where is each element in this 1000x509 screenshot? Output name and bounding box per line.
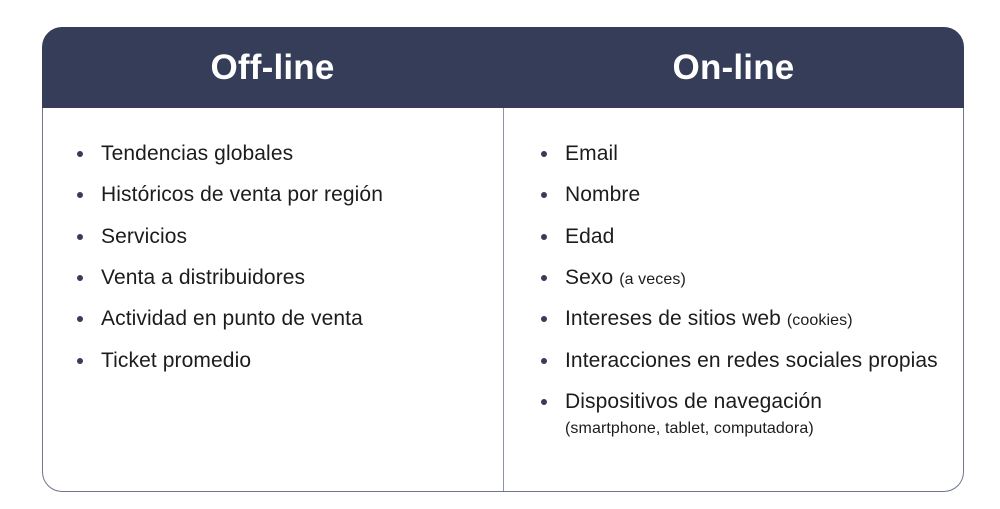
table-header-row: Off-line On-line	[42, 27, 964, 108]
list-item-label: Actividad en punto de venta	[101, 307, 363, 330]
list-item: Históricos de venta por región	[73, 180, 487, 210]
list-item-label: Dispositivos de navegación	[565, 390, 822, 413]
list-item-label: Intereses de sitios web	[565, 307, 787, 330]
list-item-label: Nombre	[565, 183, 640, 206]
online-bullet-list: Email Nombre Edad Sexo (a veces) Interes…	[537, 139, 947, 440]
list-item: Intereses de sitios web (cookies)	[537, 304, 947, 334]
list-item: Edad	[537, 222, 947, 252]
list-item: Interacciones en redes sociales propias	[537, 346, 947, 376]
page-canvas: Off-line On-line Tendencias globales His…	[0, 0, 1000, 509]
list-item-label: Históricos de venta por región	[101, 183, 383, 206]
list-item-label: Venta a distribuidores	[101, 266, 305, 289]
list-item-note: (a veces)	[619, 271, 686, 288]
list-item: Ticket promedio	[73, 346, 487, 376]
list-item: Dispositivos de navegación (smartphone, …	[537, 387, 947, 441]
list-item-label: Servicios	[101, 225, 187, 248]
comparison-table-card: Off-line On-line Tendencias globales His…	[42, 27, 964, 492]
offline-bullet-list: Tendencias globales Históricos de venta …	[73, 139, 487, 375]
list-item-note: (cookies)	[787, 312, 853, 329]
list-item: Venta a distribuidores	[73, 263, 487, 293]
list-item: Nombre	[537, 180, 947, 210]
list-item: Email	[537, 139, 947, 169]
column-offline: Tendencias globales Históricos de venta …	[43, 108, 503, 491]
column-online: Email Nombre Edad Sexo (a veces) Interes…	[503, 108, 963, 491]
list-item: Sexo (a veces)	[537, 263, 947, 293]
list-item: Tendencias globales	[73, 139, 487, 169]
header-cell-online: On-line	[503, 27, 964, 108]
column-header-offline: Off-line	[210, 50, 334, 85]
list-item-subline: (smartphone, tablet, computadora)	[565, 418, 947, 441]
list-item-label: Email	[565, 142, 618, 165]
column-header-online: On-line	[673, 50, 795, 85]
list-item-label: Sexo	[565, 266, 619, 289]
list-item: Actividad en punto de venta	[73, 304, 487, 334]
list-item: Servicios	[73, 222, 487, 252]
list-item-label: Interacciones en redes sociales propias	[565, 349, 938, 372]
table-body: Tendencias globales Históricos de venta …	[42, 108, 964, 492]
header-cell-offline: Off-line	[42, 27, 503, 108]
list-item-label: Edad	[565, 225, 614, 248]
list-item-label: Ticket promedio	[101, 349, 251, 372]
list-item-label: Tendencias globales	[101, 142, 293, 165]
